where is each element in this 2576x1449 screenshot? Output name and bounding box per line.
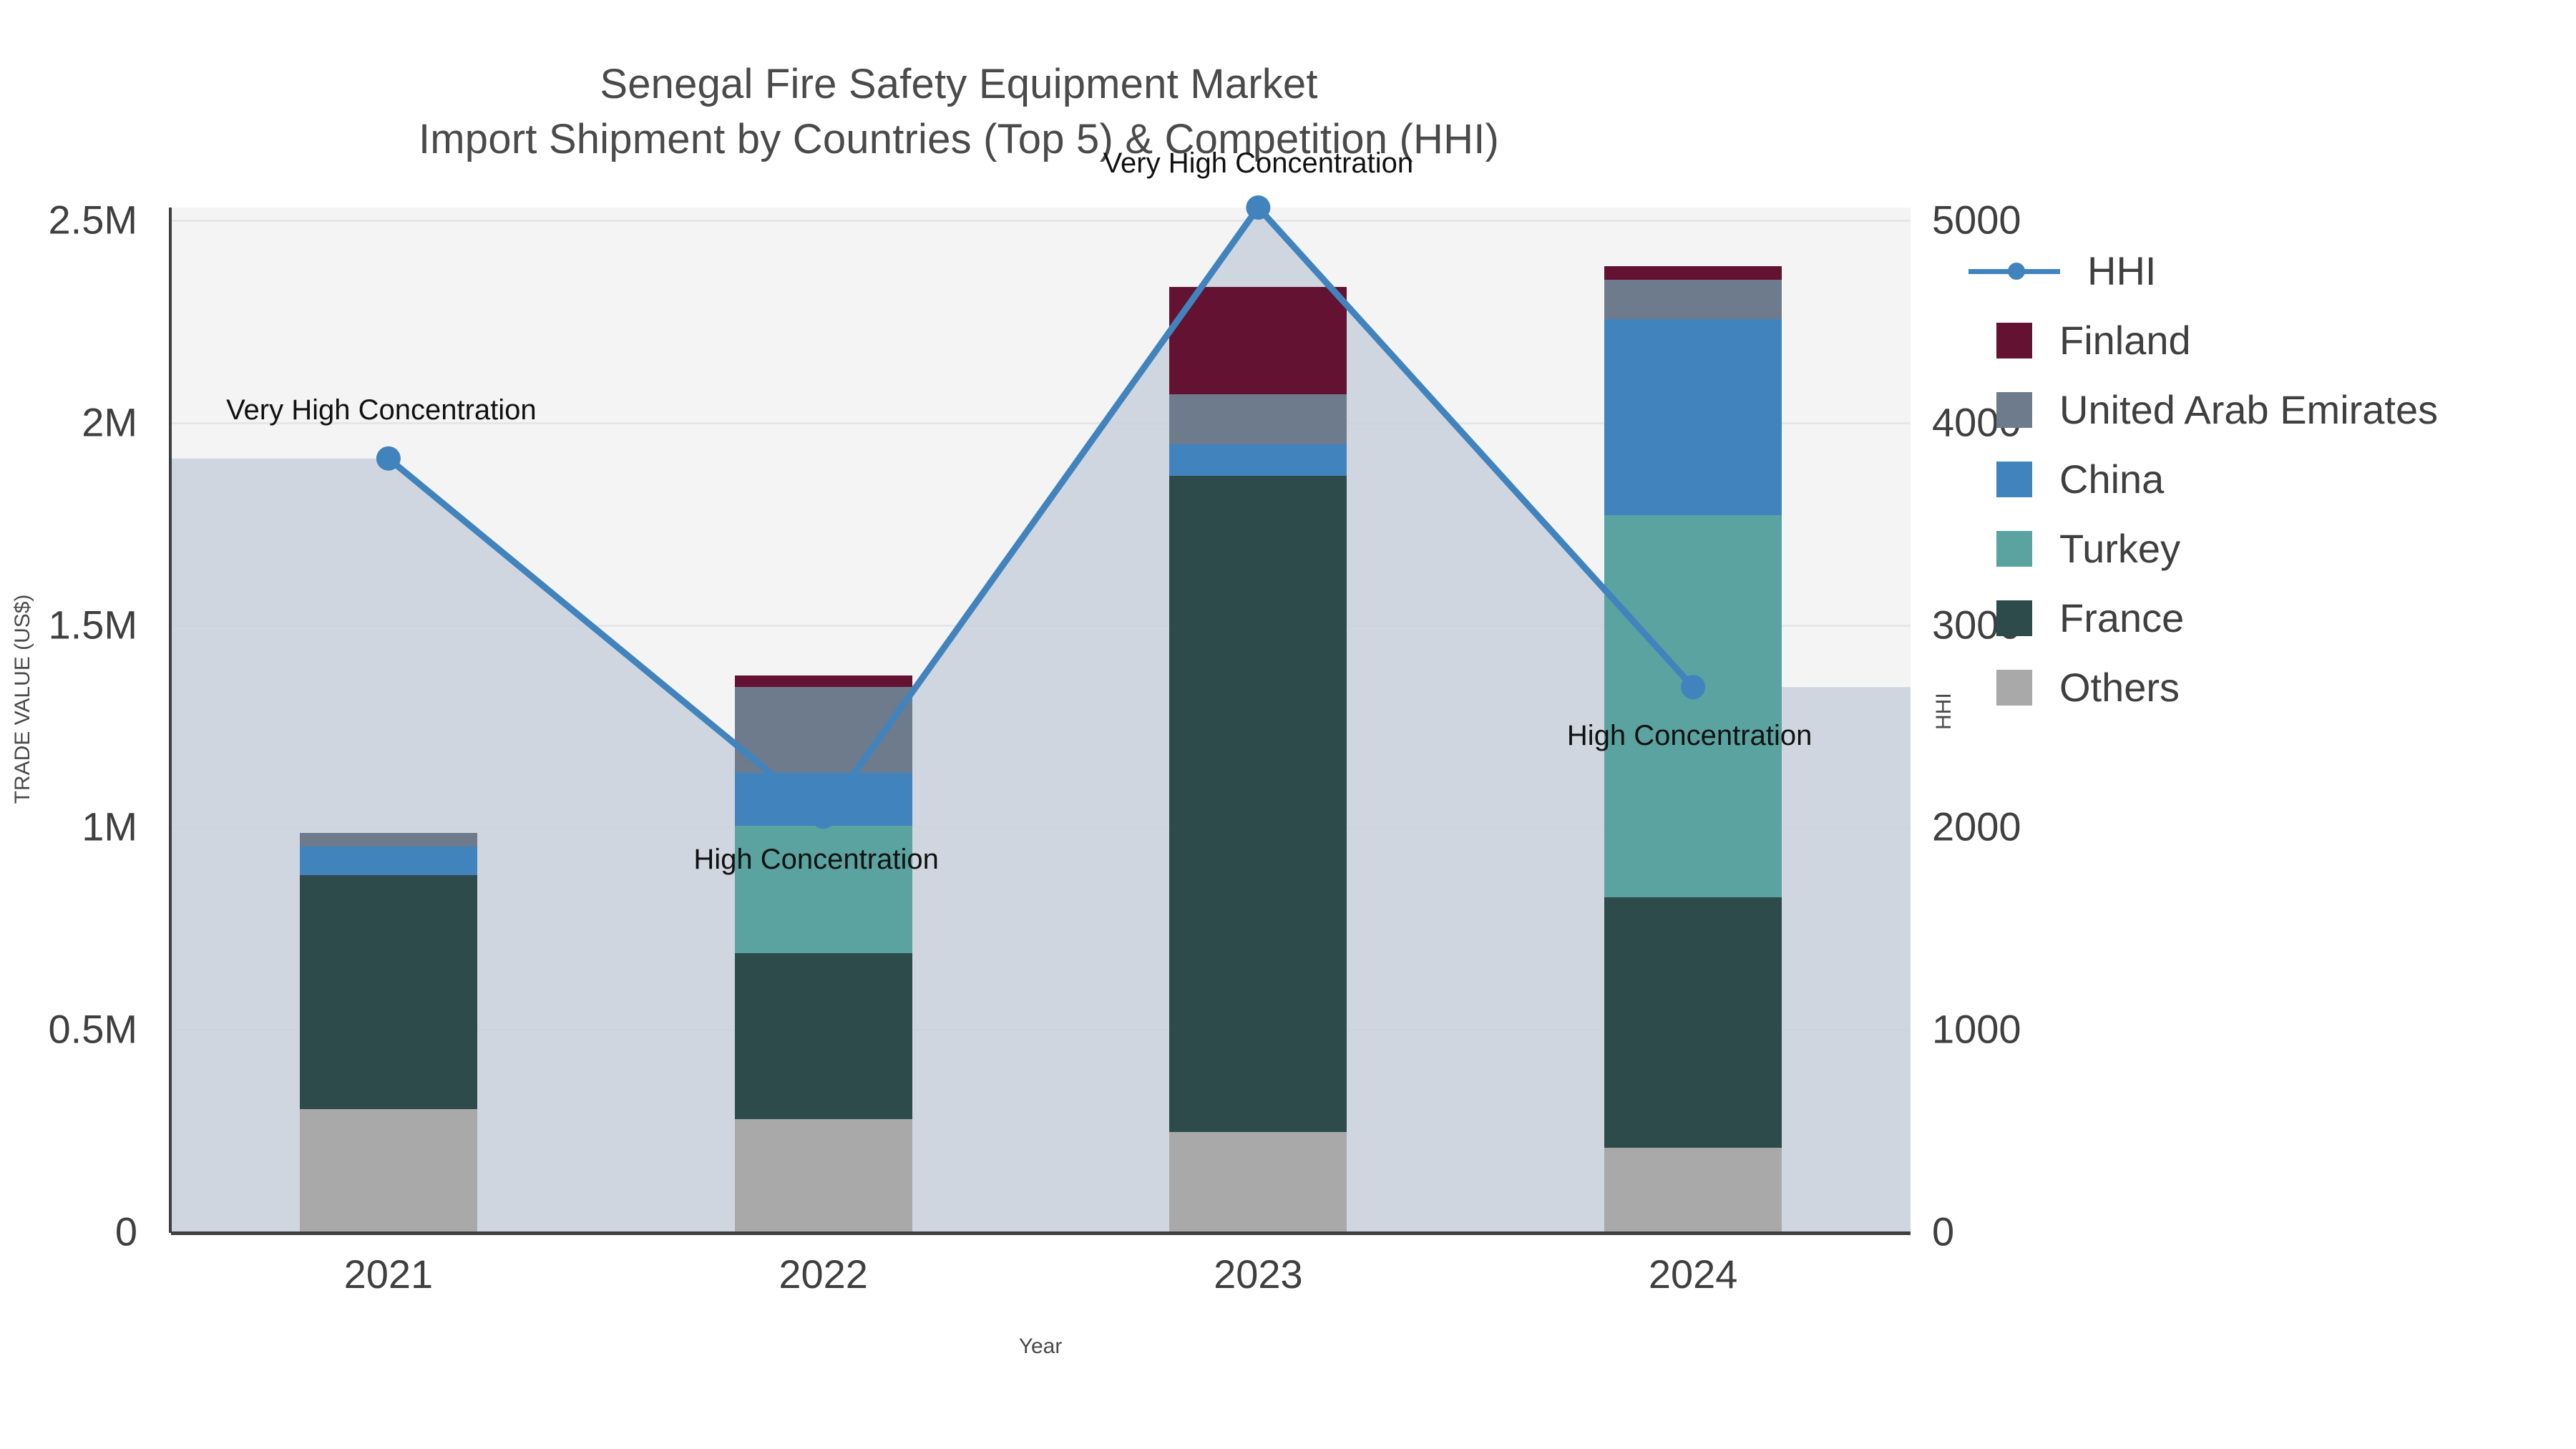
y-axis-right-title: HHI — [1932, 693, 1956, 730]
y-axis-left-title: TRADE VALUE (US$) — [11, 592, 35, 806]
bar-segment[interactable] — [735, 773, 912, 826]
x-tick-label: 2022 — [779, 1251, 868, 1297]
y-tick-label: 0.5M — [49, 1006, 138, 1053]
legend-color-swatch-icon — [1996, 392, 2032, 428]
legend-label: Finland — [2059, 321, 2191, 361]
legend-item[interactable]: Others — [1996, 653, 2562, 722]
bar-segment[interactable] — [735, 1119, 912, 1231]
y-axis-line — [169, 208, 172, 1233]
legend: HHIFinlandUnited Arab EmiratesChinaTurke… — [1996, 236, 2562, 722]
y-tick-label: 1M — [82, 804, 137, 850]
bar-segment[interactable] — [1604, 280, 1782, 319]
legend-label: France — [2059, 598, 2184, 638]
bar-segment[interactable] — [300, 847, 477, 875]
y2-tick-label: 2000 — [1932, 804, 2021, 850]
x-tick-label: 2023 — [1214, 1251, 1303, 1297]
legend-color-swatch-icon — [1996, 323, 2032, 358]
y2-tick-label: 1000 — [1932, 1006, 2021, 1053]
y-tick-label: 2.5M — [49, 197, 138, 243]
concentration-annotation: Very High Concentration — [226, 394, 537, 426]
legend-color-swatch-icon — [1996, 600, 2032, 636]
y2-tick-label: 0 — [1932, 1209, 1954, 1255]
legend-label: HHI — [2087, 251, 2156, 291]
legend-color-swatch-icon — [1996, 462, 2032, 497]
legend-item[interactable]: HHI — [1996, 236, 2562, 306]
bar-segment[interactable] — [1169, 287, 1347, 394]
concentration-annotation: High Concentration — [693, 844, 938, 876]
bar-segment[interactable] — [735, 687, 912, 773]
legend-label: Others — [2059, 668, 2180, 708]
bar-segment[interactable] — [1604, 1148, 1782, 1231]
x-axis-title: Year — [1019, 1335, 1063, 1359]
legend-label: China — [2059, 459, 2164, 499]
legend-item[interactable]: United Arab Emirates — [1996, 375, 2562, 444]
legend-item[interactable]: China — [1996, 444, 2562, 514]
bar-segment[interactable] — [1604, 897, 1782, 1148]
legend-item[interactable]: Turkey — [1996, 514, 2562, 583]
bar-segment[interactable] — [1604, 515, 1782, 897]
x-tick-label: 2021 — [344, 1251, 434, 1297]
bar-segment[interactable] — [735, 675, 912, 687]
bar-segment[interactable] — [1169, 394, 1347, 444]
legend-color-swatch-icon — [1996, 670, 2032, 706]
bar-segment[interactable] — [735, 953, 912, 1118]
x-axis-line — [171, 1231, 1911, 1235]
bar-segment[interactable] — [300, 833, 477, 847]
chart-canvas: Senegal Fire Safety Equipment Market Imp… — [0, 0, 2576, 1449]
legend-line-marker-icon — [1968, 253, 2060, 289]
y-tick-label: 1.5M — [49, 601, 138, 648]
bar-segment[interactable] — [1169, 1132, 1347, 1231]
bar-segment[interactable] — [1169, 444, 1347, 476]
bar-segment[interactable] — [300, 875, 477, 1109]
concentration-annotation: High Concentration — [1567, 720, 1812, 752]
chart-title-line1: Senegal Fire Safety Equipment Market — [600, 61, 1317, 107]
y-tick-label: 2M — [82, 399, 137, 445]
concentration-annotation: Very High Concentration — [1103, 147, 1414, 180]
bar-segment[interactable] — [300, 1109, 477, 1231]
chart-title: Senegal Fire Safety Equipment Market Imp… — [0, 57, 1918, 167]
chart-title-line2: Import Shipment by Countries (Top 5) & C… — [0, 112, 1918, 167]
x-tick-label: 2024 — [1649, 1251, 1738, 1297]
legend-item[interactable]: Finland — [1996, 306, 2562, 375]
legend-color-swatch-icon — [1996, 531, 2032, 567]
legend-label: Turkey — [2059, 529, 2180, 569]
legend-item[interactable]: France — [1996, 583, 2562, 653]
bar-segment[interactable] — [1604, 319, 1782, 515]
bar-segment[interactable] — [1604, 266, 1782, 280]
y-tick-label: 0 — [115, 1209, 137, 1255]
bar-segment[interactable] — [1169, 476, 1347, 1132]
legend-label: United Arab Emirates — [2059, 390, 2438, 430]
